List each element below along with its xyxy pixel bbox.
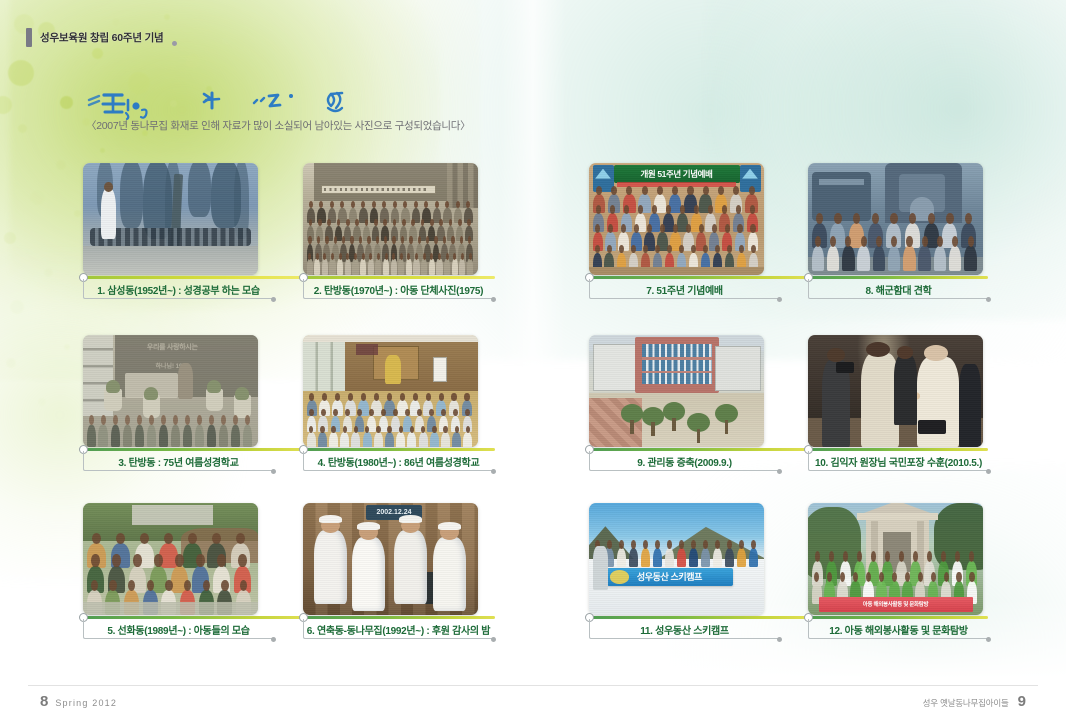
decorative-dot — [92, 48, 103, 59]
photo-caption-box-10: 10. 김익자 원장님 국민포장 수훈(2010.5.) — [808, 451, 988, 471]
decorative-dot — [250, 60, 257, 67]
caption-end-dot-6 — [491, 637, 496, 642]
caption-end-dot-2 — [491, 297, 496, 302]
photo-caption-text-9: 9. 관리동 증축(2009.9.) — [590, 454, 779, 469]
photo-caption-box-5: 5. 선화동(1989년~) : 아동들의 모습 — [83, 619, 273, 639]
decorative-dot — [4, 232, 16, 244]
photo-caption-box-1: 1. 삼성동(1952년~) : 성경공부 하는 모습 — [83, 279, 273, 299]
decorative-dot — [112, 18, 120, 26]
decorative-dot — [0, 96, 12, 114]
header-tab-label: 성우보육원 창립 60주년 기념 — [40, 30, 164, 45]
photo-caption-box-7: 7. 51주년 기념예배 — [589, 279, 779, 299]
photo-caption-text-6: 6. 연축동-동나무집(1992년~) : 후원 감사의 밤 — [304, 622, 493, 637]
photo-caption-text-2: 2. 탄방동(1970년~) : 아동 단체사진(1975) — [304, 282, 493, 297]
decorative-dot — [64, 344, 70, 350]
decorative-dot — [44, 268, 53, 277]
caption-end-dot-9 — [777, 469, 782, 474]
page-title-calligraphy — [86, 86, 426, 122]
photo-caption-text-10: 10. 김익자 원장님 국민포장 수훈(2010.5.) — [809, 454, 988, 469]
photo-caption-text-4: 4. 탄방동(1980년~) : 86년 여름성경학교 — [304, 454, 493, 469]
photo-image-3: 우리를 사랑하시는하나님! 1975 — [83, 335, 258, 447]
decorative-dot — [60, 96, 73, 109]
caption-end-dot-1 — [271, 297, 276, 302]
decorative-dot — [8, 60, 34, 86]
decorative-dot — [6, 358, 16, 368]
caption-end-dot-3 — [271, 469, 276, 474]
caption-end-dot-8 — [986, 297, 991, 302]
photo-image-2 — [303, 163, 478, 275]
page-number-right: 9 — [1018, 693, 1026, 710]
footer-right: 성우 옛날동나무집아이들 9 — [923, 693, 1026, 710]
photo-caption-box-4: 4. 탄방동(1980년~) : 86년 여름성경학교 — [303, 451, 493, 471]
photo-caption-text-12: 12. 아동 해외봉사활동 및 문화탐방 — [809, 622, 988, 637]
page-number-left: 8 — [40, 693, 48, 710]
photo-image-10 — [808, 335, 983, 447]
photo-image-11: 성우동산 스키캠프 — [589, 503, 764, 615]
footer-divider — [28, 685, 1038, 686]
photo-caption-box-6: 6. 연축동-동나무집(1992년~) : 후원 감사의 밤 — [303, 619, 493, 639]
photo-caption-text-1: 1. 삼성동(1952년~) : 성경공부 하는 모습 — [84, 282, 273, 297]
photo-image-4 — [303, 335, 478, 447]
photo-caption-text-8: 8. 해군함대 견학 — [809, 282, 988, 297]
photo-caption-box-11: 11. 성우동산 스키캠프 — [589, 619, 779, 639]
header-tab-enddot — [172, 41, 177, 46]
photo-caption-box-12: 12. 아동 해외봉사활동 및 문화탐방 — [808, 619, 988, 639]
decorative-dot — [56, 160, 66, 170]
photo-image-9 — [589, 335, 764, 447]
decorative-dot — [30, 190, 45, 205]
caption-end-dot-11 — [777, 637, 782, 642]
photo-image-12: 아동 해외봉사활동 및 문화탐방 — [808, 503, 983, 615]
caption-end-dot-4 — [491, 469, 496, 474]
decorative-dot — [74, 210, 81, 217]
photo-caption-box-9: 9. 관리동 증축(2009.9.) — [589, 451, 779, 471]
photo-image-5 — [83, 503, 258, 615]
photo-image-7: 개원 51주년 기념예배 — [589, 163, 764, 275]
decorative-dot — [100, 148, 105, 153]
photo-image-1 — [83, 163, 258, 275]
header-section-tab: 성우보육원 창립 60주년 기념 — [26, 27, 177, 47]
photo-image-6: 2002.12.24 — [303, 503, 478, 615]
photo-caption-box-3: 3. 탄방동 : 75년 여름성경학교 — [83, 451, 273, 471]
caption-end-dot-5 — [271, 637, 276, 642]
header-tab-bar — [26, 28, 32, 47]
photo-caption-text-5: 5. 선화동(1989년~) : 아동들의 모습 — [84, 622, 273, 637]
decorative-dot — [18, 124, 27, 133]
issue-label: Spring 2012 — [55, 698, 117, 708]
caption-end-dot-12 — [986, 637, 991, 642]
decorative-dot — [186, 54, 200, 68]
photo-caption-box-8: 8. 해군함대 견학 — [808, 279, 988, 299]
publication-label: 성우 옛날동나무집아이들 — [923, 697, 1009, 709]
magazine-spread: 성우보육원 창립 60주년 기념 — [0, 0, 1066, 728]
decorative-dot — [38, 398, 46, 406]
photo-caption-text-11: 11. 성우동산 스키캠프 — [590, 622, 779, 637]
photo-caption-text-3: 3. 탄방동 : 75년 여름성경학교 — [84, 454, 273, 469]
footer-left: 8 Spring 2012 — [40, 693, 117, 710]
photo-image-8 — [808, 163, 983, 275]
photo-caption-text-7: 7. 51주년 기념예배 — [590, 282, 779, 297]
decorative-dot — [10, 300, 24, 314]
photo-caption-box-2: 2. 탄방동(1970년~) : 아동 단체사진(1975) — [303, 279, 493, 299]
decorative-dot — [164, 14, 170, 20]
caption-end-dot-10 — [986, 469, 991, 474]
title-subtitle: 〈2007년 동나무집 화재로 인해 자료가 많이 소실되어 남아있는 사진으로… — [86, 118, 470, 133]
caption-end-dot-7 — [777, 297, 782, 302]
decorative-dot — [222, 36, 231, 45]
